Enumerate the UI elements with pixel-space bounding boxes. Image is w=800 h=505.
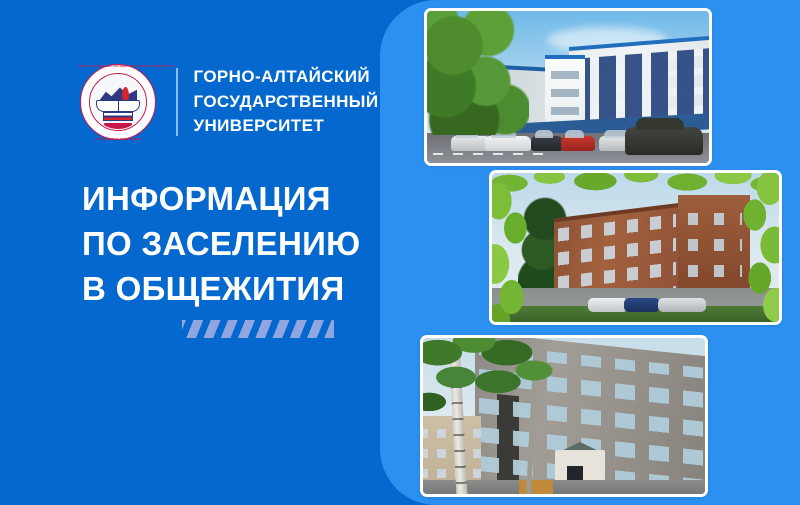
tree-foliage	[427, 11, 529, 135]
car	[485, 136, 531, 151]
emblem-flag-icon	[103, 112, 133, 121]
photo-dormitory-grey-panel	[420, 335, 708, 497]
photo-dormitory-modern-white-blue	[424, 8, 712, 166]
poster-root: ГОРНО-АЛТАЙСКИЙ ГОСУДАРСТВЕННЫЙ УНИВЕРСИ…	[0, 0, 800, 505]
diagonal-stripes-decoration	[182, 320, 334, 338]
brand-lockup: ГОРНО-АЛТАЙСКИЙ ГОСУДАРСТВЕННЫЙ УНИВЕРСИ…	[78, 62, 378, 142]
photo-3-image	[423, 338, 705, 494]
emblem-flame-icon	[122, 87, 129, 101]
photo-1-image	[427, 11, 709, 163]
emblem-open-book-icon	[96, 100, 140, 112]
car	[531, 136, 563, 151]
brand-divider	[176, 68, 178, 136]
ground-object	[519, 480, 553, 494]
emblem-name-plate	[104, 123, 132, 129]
emblem-mountains-icon	[99, 85, 137, 101]
tree-foliage	[423, 338, 561, 440]
suv-car	[625, 127, 703, 155]
page-title: ИНФОРМАЦИЯ ПО ЗАСЕЛЕНИЮ В ОБЩЕЖИТИЯ	[82, 176, 360, 312]
photo-dormitory-red-brick	[489, 170, 782, 325]
car	[658, 298, 706, 312]
car	[588, 298, 628, 312]
car	[624, 298, 660, 312]
emblem-ring-text-top: ГОРНО-АЛТАЙСКИЙ ГОСУДАРСТВЕННЫЙ УНИВЕРСИ…	[78, 64, 158, 68]
emblem-ring-text-bottom: РОССИЙСКАЯ ФЕДЕРАЦИЯ	[78, 137, 158, 141]
photo-2-image	[492, 173, 779, 322]
gasu-university-seal-emblem: ГОРНО-АЛТАЙСКИЙ ГОСУДАРСТВЕННЫЙ УНИВЕРСИ…	[78, 62, 158, 142]
car	[561, 136, 595, 151]
foliage-left	[492, 183, 550, 322]
emblem-core	[91, 75, 145, 129]
university-name: ГОРНО-АЛТАЙСКИЙ ГОСУДАРСТВЕННЫЙ УНИВЕРСИ…	[194, 65, 379, 140]
foliage-right	[725, 173, 779, 322]
